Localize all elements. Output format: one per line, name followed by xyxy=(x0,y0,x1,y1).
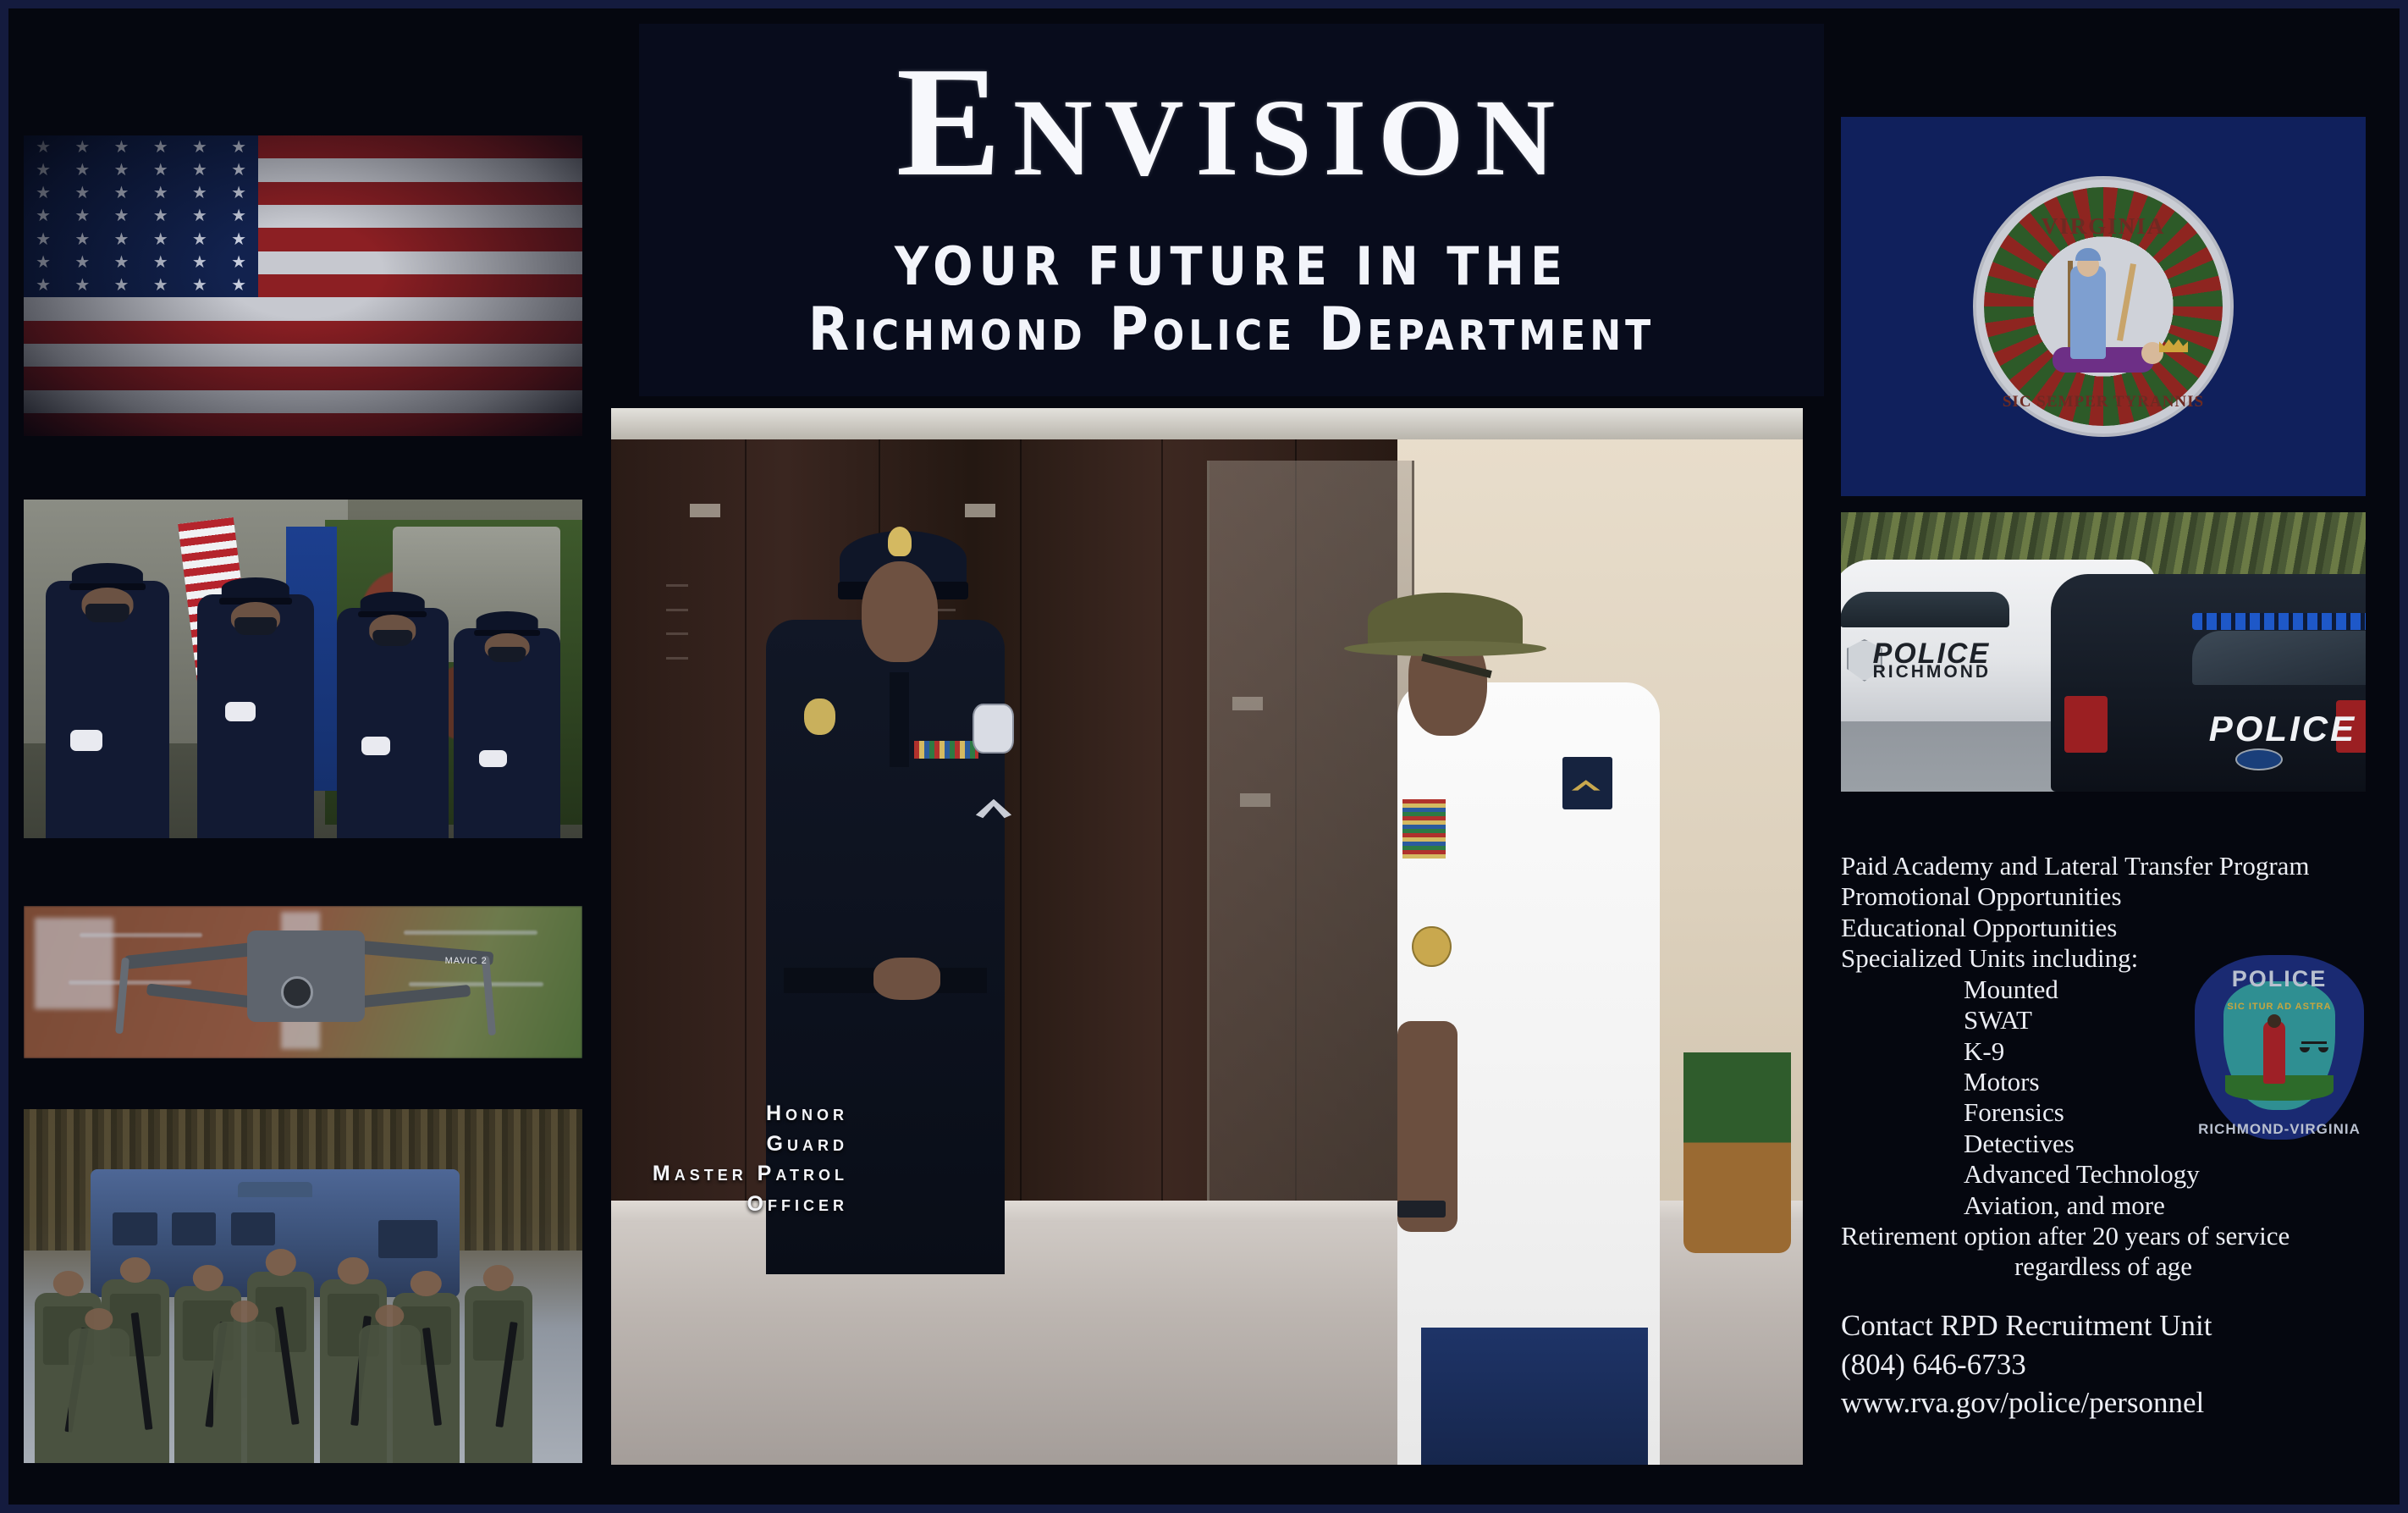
honor-guard-officer xyxy=(454,628,559,838)
swat-officer xyxy=(359,1325,421,1463)
black-car-police-text: POLICE xyxy=(2209,709,2356,749)
officer-cap-badge xyxy=(888,527,912,556)
black-cruiser: POLICE xyxy=(2051,574,2366,792)
propeller xyxy=(404,930,537,935)
officer-head xyxy=(862,561,938,662)
caption-line-2: Guard xyxy=(611,1129,848,1160)
photo-swat-team xyxy=(24,1109,582,1463)
wristwatch xyxy=(1397,1201,1445,1218)
mirror-panel xyxy=(1207,461,1414,1201)
contact-unit: Contact RPD Recruitment Unit xyxy=(1841,1306,2408,1345)
caption-line-4: Officer xyxy=(611,1190,848,1220)
benefit-item: Promotional Opportunities xyxy=(1841,881,2408,912)
benefit-item: Paid Academy and Lateral Transfer Progra… xyxy=(1841,851,2408,881)
photo-american-flag: ★★★ ★★★ ★★★ ★★★ ★★★ ★★★ ★★★ ★★★ ★★★ ★★★ … xyxy=(24,135,582,436)
contact-phone: (804) 646-6733 xyxy=(1841,1345,2408,1384)
swat-officer xyxy=(213,1322,275,1463)
scales-beam xyxy=(2301,1041,2327,1044)
ford-emblem xyxy=(2235,748,2283,770)
title-panel: Envision your future in the Richmond Pol… xyxy=(639,24,1824,396)
light-bar xyxy=(2192,613,2366,630)
flag-graphic: ★★★ ★★★ ★★★ ★★★ ★★★ ★★★ ★★★ ★★★ ★★★ ★★★ … xyxy=(24,135,582,436)
unit-item: Aviation, and more xyxy=(1841,1190,2408,1221)
sergeant-medal xyxy=(1412,926,1451,968)
white-car-richmond-text: RICHMOND xyxy=(1873,662,1992,682)
window xyxy=(35,918,113,1009)
seal-motto: SIC SEMPER TYRANNIS xyxy=(1976,393,2230,411)
propeller xyxy=(409,982,543,986)
page-title: Envision xyxy=(639,47,1824,197)
center-photo-caption: Honor Guard Master Patrol Officer xyxy=(611,1099,848,1219)
photo-officer-and-sergeant xyxy=(611,408,1803,1465)
benefit-item: Educational Opportunities xyxy=(1841,913,2408,943)
photo-virginia-flag: VIRGINIA SIC SEMPER TYRANNIS xyxy=(1841,117,2366,496)
badge-top-text: POLICE xyxy=(2195,966,2364,992)
subtitle-line-2: Richmond Police Department xyxy=(639,295,1824,364)
propeller xyxy=(69,980,191,985)
flag-vignette xyxy=(24,135,582,436)
campaign-hat-brim xyxy=(1344,641,1546,657)
swat-officer xyxy=(465,1286,532,1463)
honor-guard-officer xyxy=(46,581,168,838)
officer-hands xyxy=(873,958,940,1000)
lady-justice-figure xyxy=(2263,1021,2285,1084)
sergeant-trousers xyxy=(1421,1328,1648,1465)
officer-ribbon-bar xyxy=(914,741,978,759)
retirement-line-2: regardless of age xyxy=(1841,1251,2366,1282)
unit-item: Advanced Technology xyxy=(1841,1159,2408,1190)
potted-plant xyxy=(1683,1052,1791,1253)
seal-top-text: VIRGINIA xyxy=(1976,213,2230,240)
lady-justice-head xyxy=(2267,1014,2281,1028)
caption-line-1: Honor xyxy=(611,1099,848,1129)
caption-line-3: Master Patrol xyxy=(611,1159,848,1190)
contact-website[interactable]: www.rva.gov/police/personnel xyxy=(1841,1383,2408,1422)
drone-model-label: MAVIC 2 xyxy=(445,956,488,966)
campaign-hat xyxy=(1368,593,1523,645)
sergeant-ribbon-bar xyxy=(1402,799,1446,859)
photo-drone: MAVIC 2 xyxy=(24,906,582,1058)
officer-shoulder-patch xyxy=(973,704,1014,754)
honor-guard-officer xyxy=(337,608,449,838)
retirement-line-1: Retirement option after 20 years of serv… xyxy=(1841,1221,2408,1251)
swat-officer xyxy=(69,1328,130,1463)
photo-police-cruisers: POLICE RICHMOND POLICE xyxy=(1841,512,2366,792)
badge-bottom-text: RICHMOND-VIRGINIA xyxy=(2195,1121,2364,1138)
officer-necktie xyxy=(890,672,909,767)
subtitle-line-1: your future in the xyxy=(639,235,1824,297)
recruitment-poster: Envision your future in the Richmond Pol… xyxy=(0,0,2408,1513)
drone-body xyxy=(247,930,365,1022)
drone-camera xyxy=(281,976,313,1008)
rpd-badge-icon: POLICE SIC ITUR AD ASTRA RICHMOND-VIRGIN… xyxy=(2195,955,2364,1140)
ceiling xyxy=(611,408,1803,439)
officer-chest-badge xyxy=(804,699,835,734)
virtus-figure xyxy=(2070,266,2106,359)
poster-inner: Envision your future in the Richmond Pol… xyxy=(8,8,2400,1505)
badge-motto-text: SIC ITUR AD ASTRA xyxy=(2195,1002,2364,1012)
honor-guard-officer xyxy=(197,594,315,838)
virginia-state-seal: VIRGINIA SIC SEMPER TYRANNIS xyxy=(1973,176,2234,437)
propeller xyxy=(80,933,202,937)
contact-block: Contact RPD Recruitment Unit (804) 646-6… xyxy=(1841,1306,2408,1422)
photo-honor-guard xyxy=(24,500,582,838)
